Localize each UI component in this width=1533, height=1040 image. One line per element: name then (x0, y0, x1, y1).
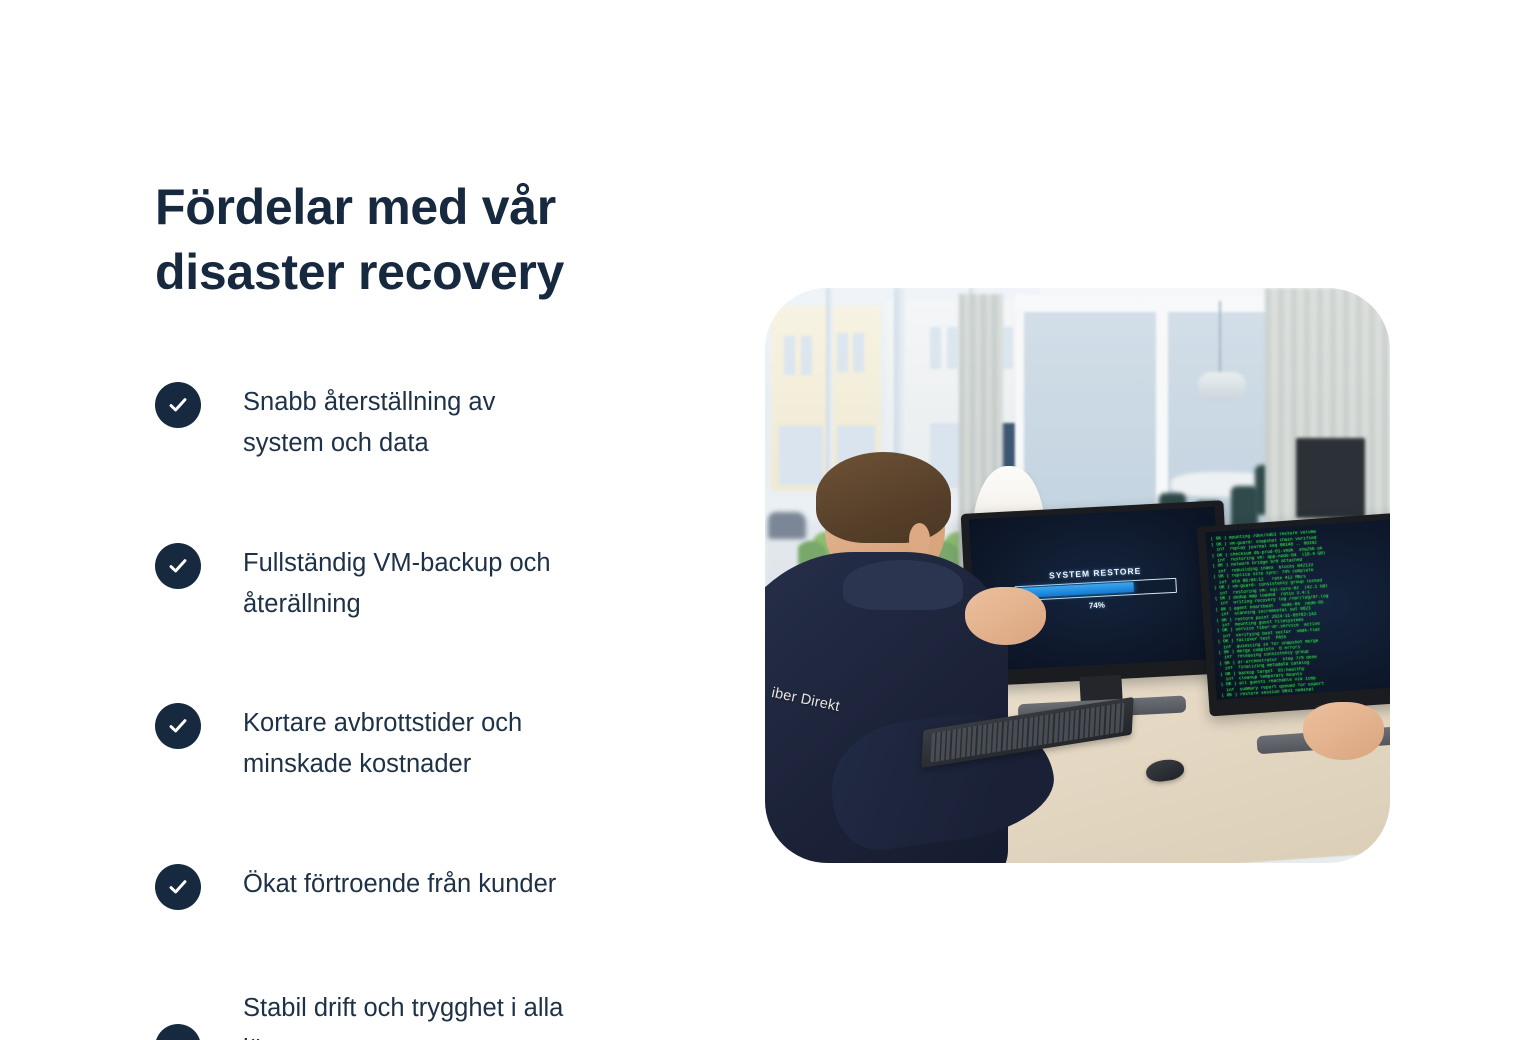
window-pane (853, 333, 864, 372)
ear (909, 523, 930, 556)
list-item-label: Stabil drift och trygghet i alla lägen (243, 987, 573, 1040)
list-item: Kortare avbrottstider och minskade kostn… (155, 702, 715, 786)
hand (965, 587, 1046, 645)
slide-root: Fördelar med vår disaster recovery Snabb… (0, 0, 1533, 1040)
list-item: Fullständig VM-backup och återällning (155, 542, 715, 626)
office-photo: SYSTEM RESTORE 74% [ OK ] mounting /dev/… (765, 288, 1390, 863)
hair (816, 452, 951, 543)
window-pane (784, 336, 795, 375)
list-item: Snabb återställning av system och data (155, 381, 715, 465)
list-item: Stabil drift och trygghet i alla lägen (155, 987, 715, 1040)
monitor-neck (1080, 674, 1123, 702)
list-item-label: Kortare avbrottstider och minskade kostn… (243, 702, 573, 786)
list-item: Ökat förtroende från kunder (155, 863, 715, 910)
technician: iber Direkt (765, 461, 1053, 864)
check-icon (155, 382, 201, 428)
check-icon (155, 1024, 201, 1040)
terminal-log: [ OK ] mounting /dev/sdb1 restore volume… (1205, 516, 1390, 699)
content-column: Fördelar med vår disaster recovery Snabb… (155, 175, 715, 1040)
wall-display (1296, 438, 1365, 519)
list-item-label: Ökat förtroende från kunder (243, 863, 556, 905)
jacket-collar (843, 560, 963, 610)
photo-scene: SYSTEM RESTORE 74% [ OK ] mounting /dev/… (765, 288, 1390, 863)
benefit-list: Snabb återställning av system och data F… (155, 381, 715, 1040)
window-pane (947, 327, 958, 369)
hand (1303, 702, 1384, 760)
monitor-terminal: [ OK ] mounting /dev/sdb1 restore volume… (1196, 510, 1390, 717)
check-icon (155, 543, 201, 589)
monitor-screen: [ OK ] mounting /dev/sdb1 restore volume… (1205, 516, 1390, 699)
pendant-lamp (1198, 372, 1246, 401)
pendant-cord (1219, 301, 1221, 379)
page-title: Fördelar med vår disaster recovery (155, 175, 625, 305)
window-pane (837, 333, 848, 372)
window-pane (1002, 327, 1013, 369)
check-icon (155, 703, 201, 749)
window-pane (930, 327, 941, 369)
check-icon (155, 864, 201, 910)
list-item-label: Fullständig VM-backup och återällning (243, 542, 573, 626)
list-item-label: Snabb återställning av system och data (243, 381, 573, 465)
window-pane (801, 336, 812, 375)
